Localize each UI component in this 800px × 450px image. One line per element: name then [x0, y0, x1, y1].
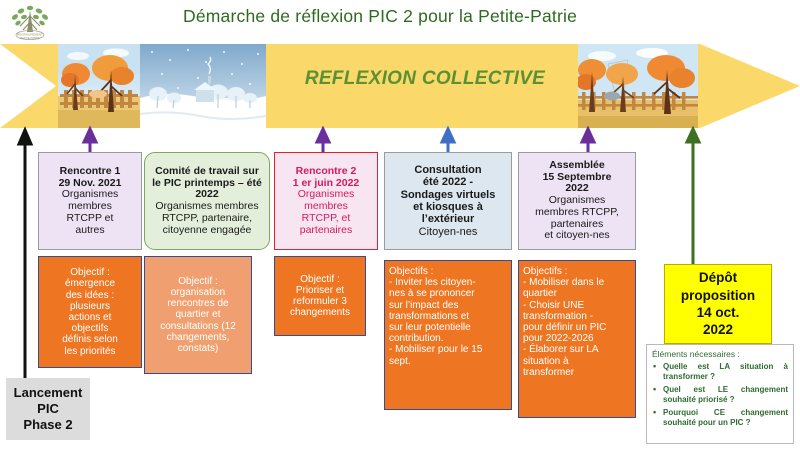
objective-line: - Mobiliser dans le [523, 277, 604, 288]
banner-image-winter [140, 44, 266, 128]
tree-logo-icon: REGROUPEMENT PETITE-PATRIE [4, 2, 56, 42]
objective-line: transformation - [523, 311, 593, 322]
objective-line: plusieurs [70, 301, 110, 312]
elements-heading: Éléments nécessaires : [652, 349, 788, 360]
event-box-rencontre-1[interactable]: Rencontre 1 29 Nov. 2021 Organismes memb… [38, 152, 142, 250]
launch-box[interactable]: Lancement PIC Phase 2 [6, 378, 90, 440]
event-heading: Consultation [414, 164, 481, 176]
objective-box-rencontre-1[interactable]: Objectif : émergence des idées : plusieu… [38, 256, 142, 368]
page-title: Démarche de réflexion PIC 2 pour la Peti… [60, 6, 700, 27]
objective-line: les priorités [64, 346, 115, 357]
event-body: membres [304, 201, 348, 213]
objective-line: Objectif : [300, 274, 339, 285]
banner-image-autumn-left [58, 44, 140, 128]
launch-line: Lancement [14, 385, 83, 401]
deposit-line: proposition [681, 287, 755, 304]
objective-box-consultation[interactable]: Objectifs : - Inviter les citoyen- nes à… [384, 260, 512, 410]
deposit-line: 14 oct. [697, 304, 740, 321]
objective-line: quartier et [175, 309, 220, 320]
banner-arrow: REFLEXION COLLECTIVE [0, 44, 800, 128]
event-heading: Rencontre 1 [60, 166, 121, 178]
event-heading: été 2022 - [423, 176, 473, 188]
objective-line: sur leur potentielle [389, 322, 471, 333]
event-body: partenaires [300, 225, 353, 237]
banner-label: REFLEXION COLLECTIVE [280, 68, 570, 90]
elements-list-item: Quel est LE changement souhaité priorisé… [663, 385, 788, 406]
objective-line: - Mobiliser pour le 15 [389, 344, 482, 355]
objective-line: - Choisir UNE [523, 300, 584, 311]
objective-line: transformations et [389, 311, 469, 322]
event-box-comite-de-travail[interactable]: Comité de travail sur le PIC printemps –… [144, 152, 270, 250]
deposit-line: Dépôt [699, 269, 737, 286]
event-body: citoyenne engagée [163, 225, 252, 237]
event-box-rencontre-2[interactable]: Rencontre 2 1 er juin 2022 Organismes me… [274, 152, 378, 250]
objective-line: situation à [523, 356, 569, 367]
elements-list: Quelle est LA situation à transformer ? … [652, 362, 788, 428]
svg-text:PETITE-PATRIE: PETITE-PATRIE [21, 36, 40, 40]
event-body: Citoyen-nes [419, 226, 478, 238]
objective-line: émergence [65, 278, 115, 289]
objective-line: objectifs [72, 323, 109, 334]
objective-line: transformer [523, 367, 574, 378]
objective-line: pour définir un PIC [523, 322, 606, 333]
objective-line: consultations (12 [160, 321, 236, 332]
event-heading: Rencontre 2 [296, 166, 357, 178]
event-box-consultation[interactable]: Consultation été 2022 - Sondages virtuel… [384, 152, 512, 250]
objective-line: sept. [389, 356, 411, 367]
launch-line: Phase 2 [23, 417, 72, 433]
elements-list-item: Pourquoi CE changement souhaité pour un … [663, 408, 788, 429]
event-body: membres [68, 201, 112, 213]
objective-box-rencontre-2[interactable]: Objectif : Prioriser et reformuler 3 cha… [274, 256, 366, 336]
svg-text:REGROUPEMENT: REGROUPEMENT [17, 33, 43, 37]
event-body: RTCPP, et [302, 213, 351, 225]
objective-line: changements, [167, 332, 230, 343]
objective-line: des idées : [66, 290, 114, 301]
objective-line: Objectifs : [523, 266, 567, 277]
objective-line: pour 2022-2026 [523, 333, 594, 344]
deposit-line: 2022 [703, 321, 733, 338]
event-body: RTCPP et [67, 213, 114, 225]
objective-line: rencontres de [167, 298, 228, 309]
objective-line: constats) [178, 343, 219, 354]
event-body: et citoyen-nes [544, 230, 609, 242]
objective-line: Objectifs : [389, 266, 433, 277]
slide-canvas: REGROUPEMENT PETITE-PATRIE Démarche de r… [0, 0, 800, 450]
event-heading: Sondages virtuels [401, 189, 496, 201]
objective-line: changements [290, 307, 350, 318]
objective-line: définis selon [62, 334, 118, 345]
deposit-box[interactable]: Dépôt proposition 14 oct. 2022 [664, 264, 772, 344]
banner-image-autumn-right [578, 44, 698, 128]
objective-line: sur l’impact des [389, 300, 458, 311]
objective-line: actions et [69, 312, 112, 323]
event-heading: et kiosques à [413, 201, 483, 213]
objective-line: Objectif : [70, 267, 109, 278]
launch-line: PIC [37, 401, 59, 417]
objective-box-comite-de-travail[interactable]: Objectif : organisation rencontres de qu… [144, 256, 252, 374]
elements-necessaires-box: Éléments nécessaires : Quelle est LA sit… [646, 344, 794, 444]
event-heading: Assemblée [549, 160, 604, 172]
objective-line: quartier [523, 288, 557, 299]
event-body: membres RTCPP, [535, 207, 619, 219]
event-body: RTCPP, partenaire, [162, 213, 252, 225]
objective-line: Prioriser et [296, 285, 344, 296]
objective-box-assemblee[interactable]: Objectifs : - Mobiliser dans le quartier… [518, 260, 636, 418]
objective-line: - Inviter les citoyen- [389, 277, 476, 288]
event-box-assemblee[interactable]: Assemblée 15 Septembre 2022 Organismes m… [518, 152, 636, 250]
objective-line: organisation [171, 287, 225, 298]
event-heading: Comité de travail sur [155, 166, 259, 178]
objective-line: - Élaborer sur LA [523, 344, 599, 355]
event-body: autres [75, 225, 104, 237]
event-heading: l’extérieur [422, 213, 475, 225]
objective-line: nes à se prononcer [389, 288, 475, 299]
elements-list-item: Quelle est LA situation à transformer ? [663, 362, 788, 383]
objective-line: contribution. [389, 333, 443, 344]
event-body: Organismes membres [155, 201, 258, 213]
objective-line: Objectif : [178, 276, 217, 287]
objective-line: reformuler 3 [293, 296, 347, 307]
